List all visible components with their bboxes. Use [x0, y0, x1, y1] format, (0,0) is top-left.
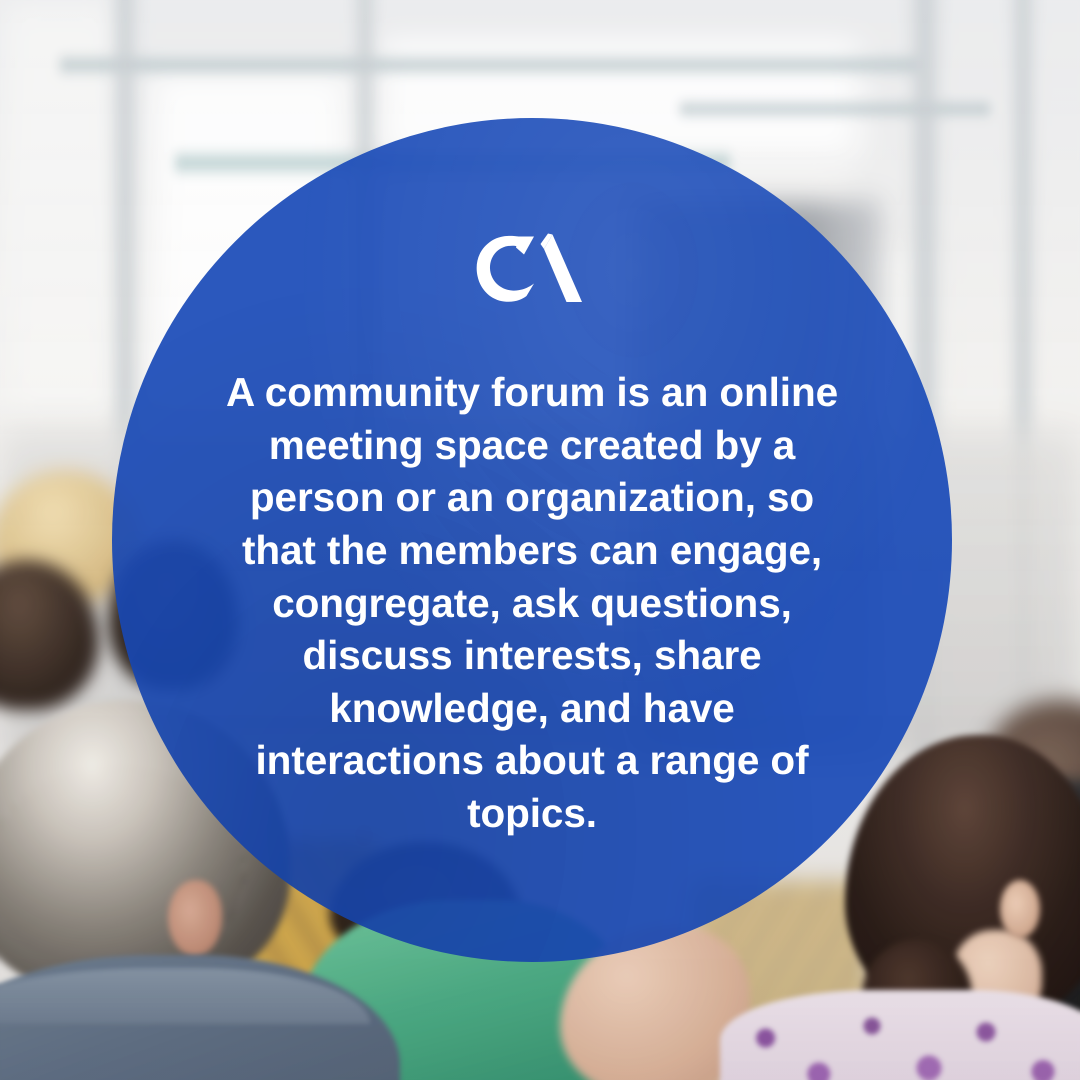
quote-text: A community forum is an online meeting s… — [202, 366, 862, 840]
ca-monogram-logo-icon — [466, 228, 598, 318]
social-graphic-canvas: A community forum is an online meeting s… — [0, 0, 1080, 1080]
circle-content: A community forum is an online meeting s… — [112, 118, 952, 962]
